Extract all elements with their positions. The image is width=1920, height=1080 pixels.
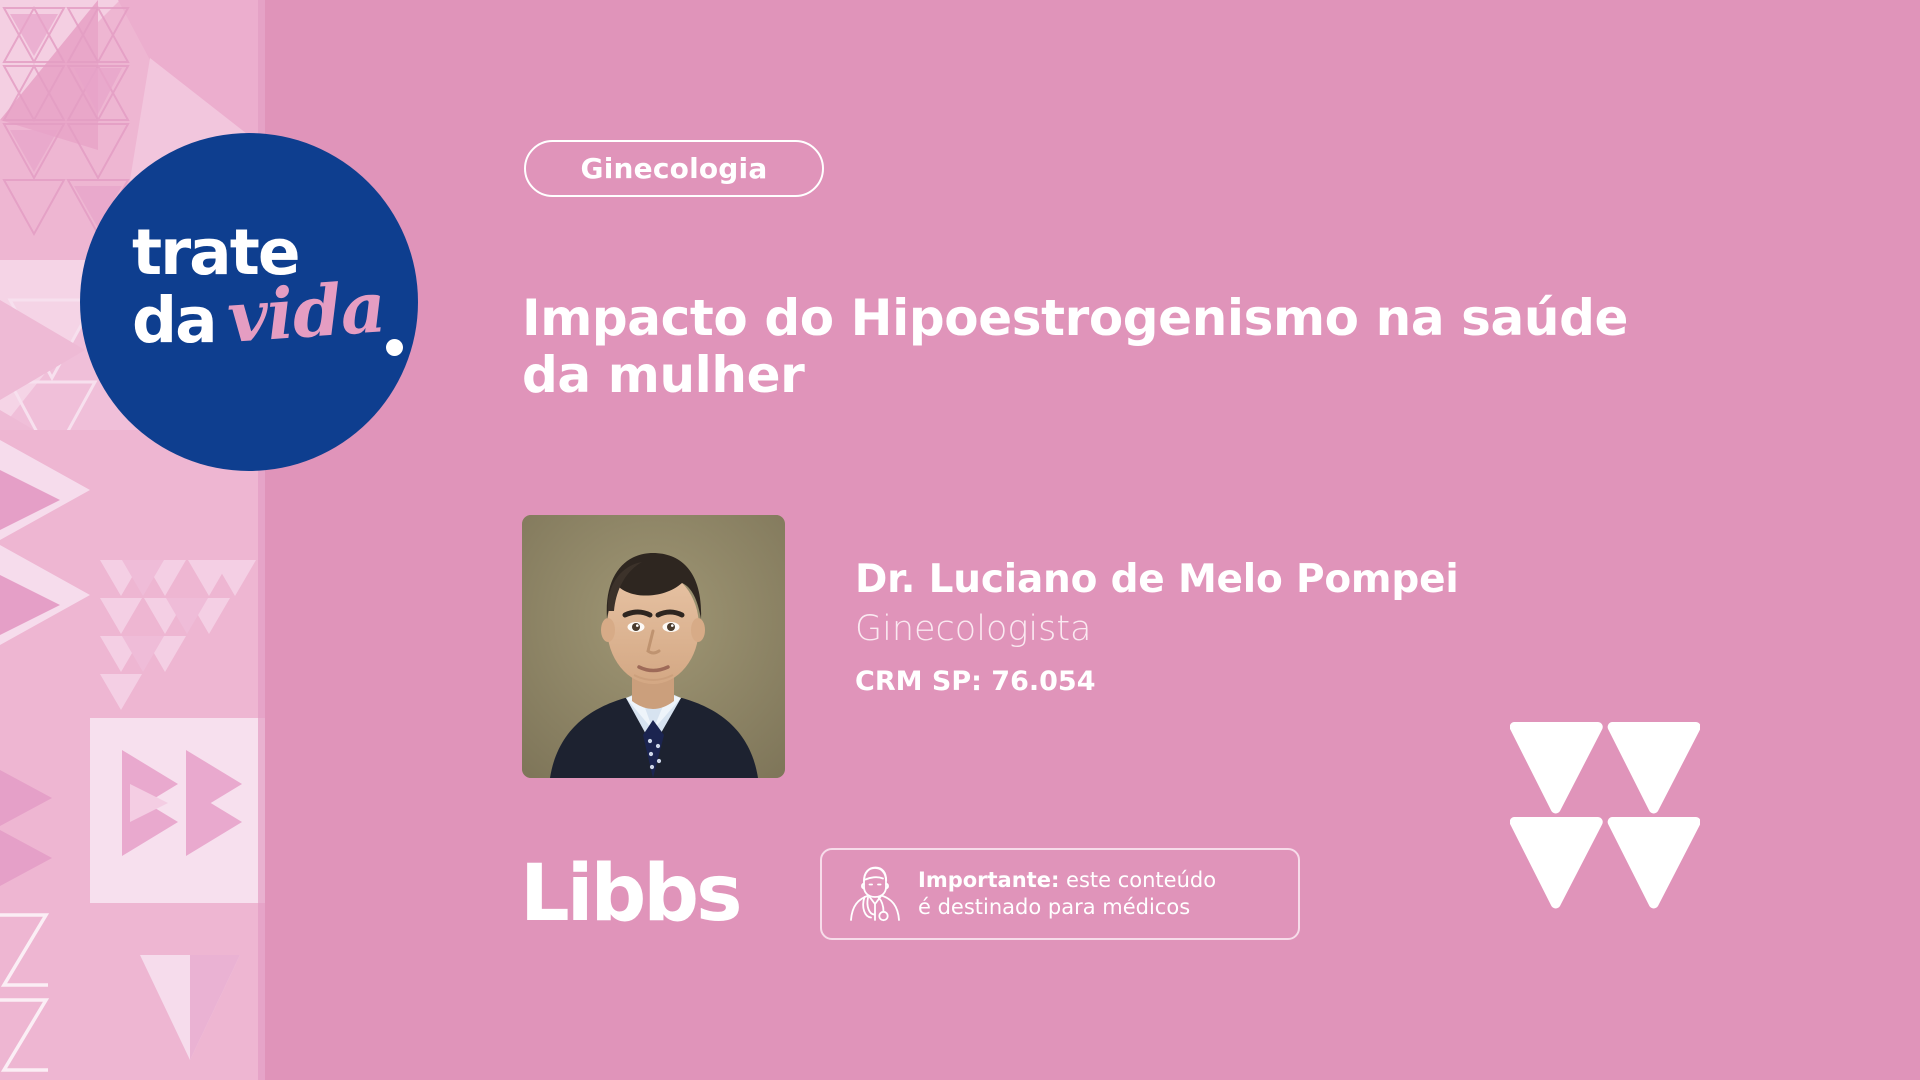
disclaimer-text: Importante: este conteúdo é destinado pa… xyxy=(918,867,1216,921)
speaker-name: Dr. Luciano de Melo Pompei xyxy=(855,559,1459,602)
headline-line-1: Impacto do Hipoestrogenismo na saúde xyxy=(522,289,1628,347)
speaker-details: Dr. Luciano de Melo Pompei Ginecologista… xyxy=(855,515,1459,698)
category-badge-label: Ginecologia xyxy=(581,152,768,185)
page-title: Impacto do Hipoestrogenismo na saúde da … xyxy=(522,290,1652,404)
trate-da-vida-logo: trate da vida xyxy=(80,133,418,471)
four-triangles-mark xyxy=(1510,718,1700,910)
logo-word-vida: vida xyxy=(225,272,387,353)
disclaimer-line1-rest: este conteúdo xyxy=(1059,868,1216,892)
logo-dot xyxy=(386,339,403,356)
logo-word-da: da xyxy=(132,289,216,352)
avatar xyxy=(522,515,785,778)
disclaimer-line2: é destinado para médicos xyxy=(918,895,1190,919)
slide-canvas: trate da vida Ginecologia Impacto do Hip… xyxy=(0,0,1920,1080)
logo-inner: trate da vida xyxy=(80,133,418,471)
headline-line-2: da mulher xyxy=(522,347,1652,404)
speaker-block: Dr. Luciano de Melo Pompei Ginecologista… xyxy=(522,515,1459,778)
libbs-logo: Libbs xyxy=(520,855,740,933)
speaker-role: Ginecologista xyxy=(855,608,1459,650)
disclaimer-bold: Importante: xyxy=(918,868,1059,892)
disclaimer-box: Importante: este conteúdo é destinado pa… xyxy=(820,848,1300,940)
speaker-crm: CRM SP: 76.054 xyxy=(855,666,1459,698)
category-badge[interactable]: Ginecologia xyxy=(524,140,824,197)
doctor-icon xyxy=(844,861,906,927)
